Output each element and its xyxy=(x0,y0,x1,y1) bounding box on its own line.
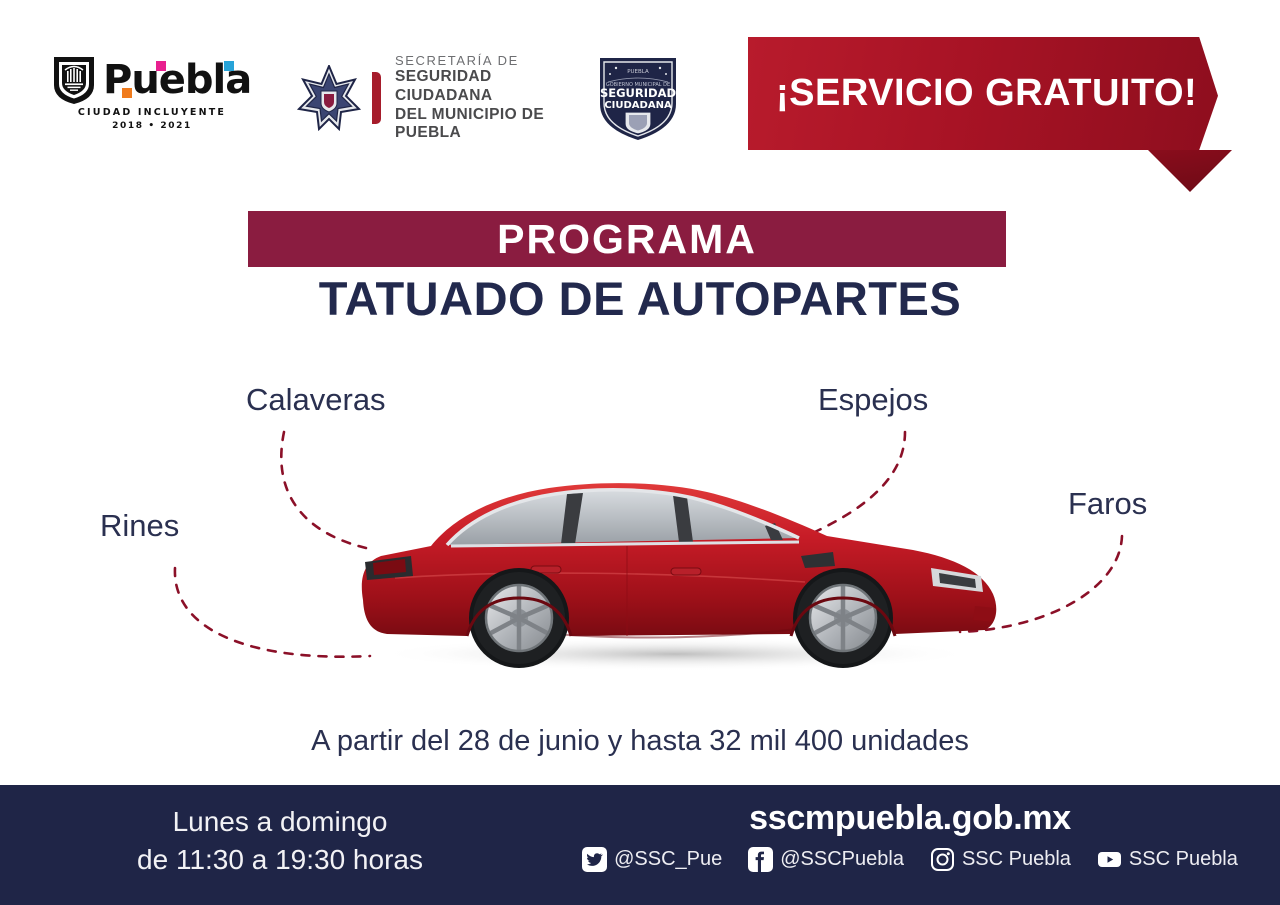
facebook-icon xyxy=(748,847,773,872)
servicio-gratuito-ribbon: ¡SERVICIO GRATUITO! xyxy=(748,37,1218,150)
car-parts-diagram: Calaveras Rines Espejos Faros xyxy=(0,340,1280,720)
twitter-icon xyxy=(582,847,607,872)
logo-row: Puebla CIUDAD INCLUYENTE 2018 • 2021 xyxy=(0,0,760,170)
social-link-youtube[interactable]: SSC Puebla xyxy=(1097,847,1238,872)
hours-days: Lunes a domingo xyxy=(60,803,500,841)
seguridad-ciudadana-shield-icon: PUEBLA GOBIERNO MUNICIPAL DE SEGURIDAD C… xyxy=(592,52,684,144)
website-url[interactable]: sscmpuebla.gob.mx xyxy=(560,799,1260,838)
puebla-accent-square-pink xyxy=(156,61,166,71)
ribbon-label: ¡SERVICIO GRATUITO! xyxy=(748,37,1218,150)
ribbon-fold-tail xyxy=(1148,150,1232,192)
callout-rines: Rines xyxy=(100,508,179,544)
puebla-logo-top: Puebla xyxy=(52,55,252,105)
puebla-accent-square-orange xyxy=(122,88,132,98)
footer-bar: Lunes a domingo de 11:30 a 19:30 horas s… xyxy=(0,785,1280,905)
front-wheel xyxy=(793,568,893,668)
instagram-handle: SSC Puebla xyxy=(962,848,1071,871)
programa-bar: PROGRAMA xyxy=(248,211,1006,267)
puebla-years: 2018 • 2021 xyxy=(52,121,252,131)
ssc-logo-line2: SEGURIDAD CIUDADANA xyxy=(395,68,566,106)
social-link-twitter[interactable]: @SSC_Pue xyxy=(582,847,722,872)
police-star-badge-icon xyxy=(296,65,362,131)
puebla-city-logo: Puebla CIUDAD INCLUYENTE 2018 • 2021 xyxy=(52,55,252,140)
availability-caption: A partir del 28 de junio y hasta 32 mil … xyxy=(0,725,1280,758)
rear-wheel xyxy=(469,568,569,668)
hours-block: Lunes a domingo de 11:30 a 19:30 horas xyxy=(60,803,500,879)
youtube-handle: SSC Puebla xyxy=(1129,848,1238,871)
shield-line1: SEGURIDAD xyxy=(600,86,676,100)
ssc-logo-line3: DEL MUNICIPIO DE PUEBLA xyxy=(395,106,566,144)
social-links: @SSC_Pue @SSCPuebla xyxy=(560,847,1260,872)
callout-faros: Faros xyxy=(1068,486,1147,522)
puebla-city-shield-icon xyxy=(52,55,96,105)
puebla-wordmark: Puebla xyxy=(103,55,251,105)
shield-line2: CIUDADANA xyxy=(604,100,672,111)
facebook-handle: @SSCPuebla xyxy=(780,848,904,871)
social-link-instagram[interactable]: SSC Puebla xyxy=(930,847,1071,872)
ssc-logo-line1: SECRETARÍA DE xyxy=(395,53,566,68)
puebla-tagline: CIUDAD INCLUYENTE xyxy=(52,107,252,118)
youtube-icon xyxy=(1097,847,1122,872)
poster-canvas: Puebla CIUDAD INCLUYENTE 2018 • 2021 xyxy=(0,0,1280,905)
hours-time: de 11:30 a 19:30 horas xyxy=(60,841,500,879)
twitter-handle: @SSC_Pue xyxy=(614,848,722,871)
shield-top-text: PUEBLA xyxy=(627,69,649,75)
social-link-facebook[interactable]: @SSCPuebla xyxy=(748,847,904,872)
programa-label: PROGRAMA xyxy=(497,216,757,263)
instagram-icon xyxy=(930,847,955,872)
callout-calaveras: Calaveras xyxy=(246,382,386,418)
puebla-accent-square-cyan xyxy=(224,61,234,71)
red-sedan-car xyxy=(335,450,1015,680)
callout-espejos: Espejos xyxy=(818,382,928,418)
ssc-logo: SECRETARÍA DE SEGURIDAD CIUDADANA DEL MU… xyxy=(296,58,566,138)
red-bracket-divider xyxy=(372,72,381,124)
ssc-logo-text: SECRETARÍA DE SEGURIDAD CIUDADANA DEL MU… xyxy=(395,53,566,144)
page-title: TATUADO DE AUTOPARTES xyxy=(0,271,1280,326)
